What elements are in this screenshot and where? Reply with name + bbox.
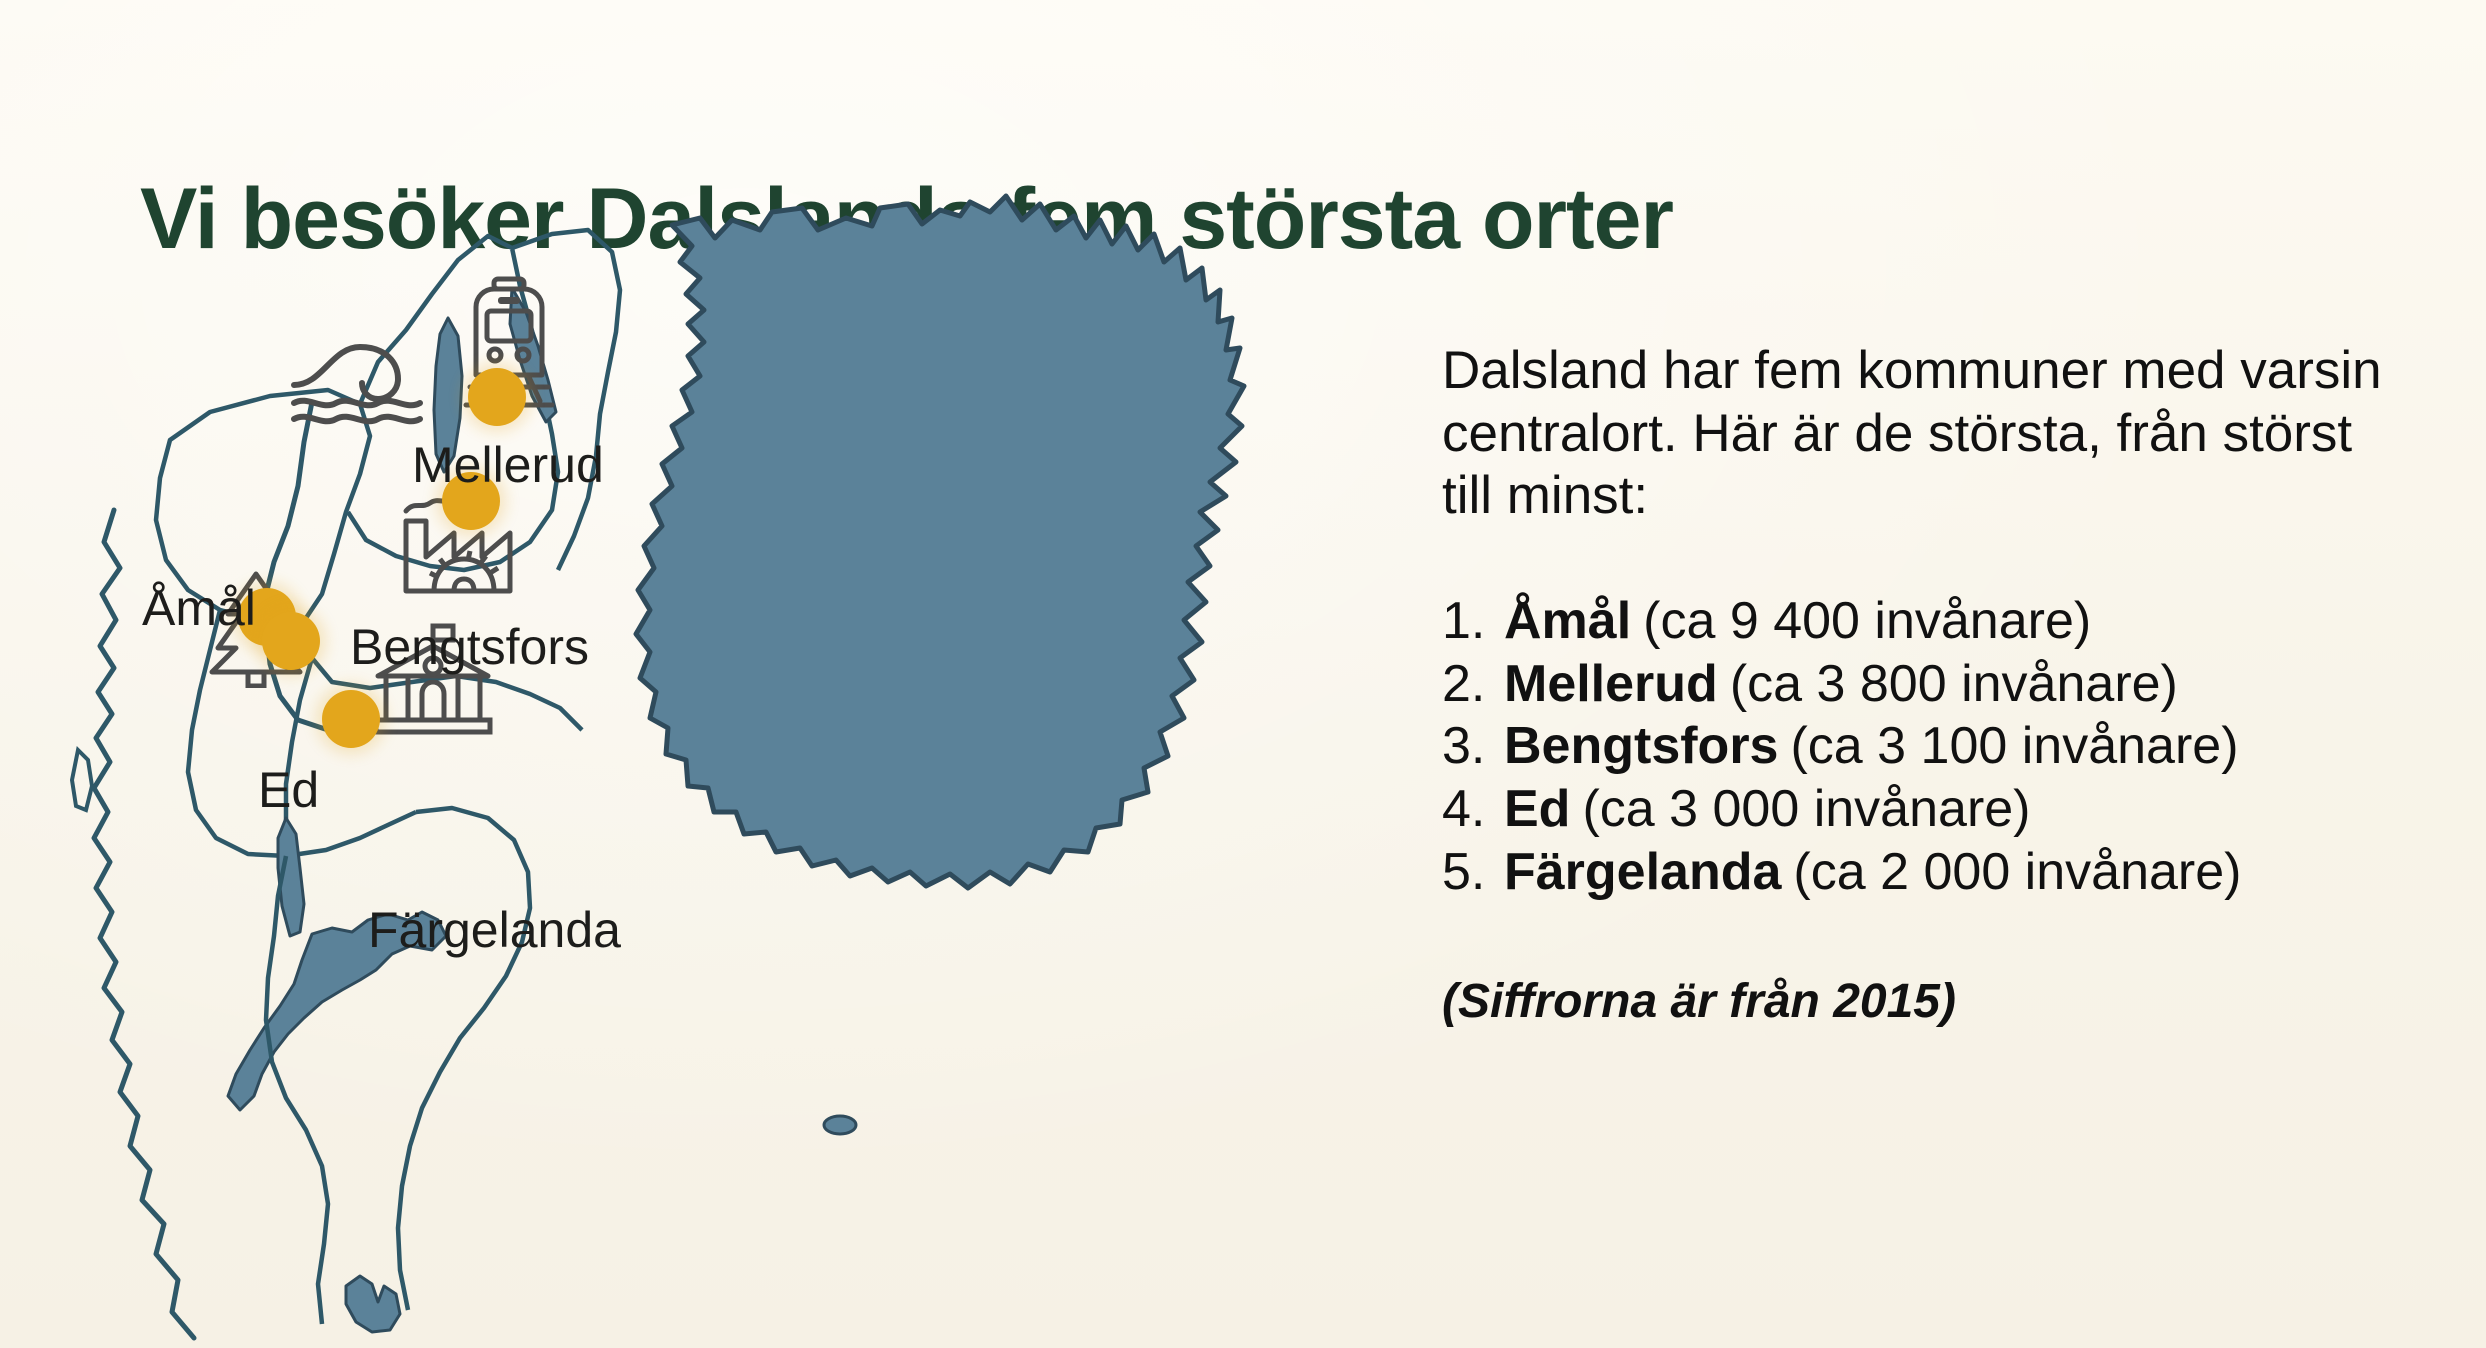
city-list-item: 2.Mellerud(ca 3 800 invånare) — [1442, 653, 2422, 716]
city-list-item: 4.Ed(ca 3 000 invånare) — [1442, 778, 2422, 841]
city-name: Åmål — [1504, 590, 1631, 653]
map-label-bengtsfors: Bengtsfors — [350, 622, 589, 672]
source-note: (Siffrorna är från 2015) — [1442, 974, 2422, 1029]
city-name: Färgelanda — [1504, 841, 1781, 904]
intro-paragraph: Dalsland har fem kommuner med varsin cen… — [1442, 340, 2382, 528]
city-ranking-list: 1.Åmål(ca 9 400 invånare)2.Mellerud(ca 3… — [1442, 590, 2422, 905]
presentation-slide: Vi besöker Dalslands fem största orter — [0, 0, 2486, 1348]
city-list-item: 1.Åmål(ca 9 400 invånare) — [1442, 590, 2422, 653]
city-rank: 2. — [1442, 653, 1504, 716]
city-rank: 3. — [1442, 715, 1504, 778]
city-rank: 5. — [1442, 841, 1504, 904]
boundary-fargelanda — [398, 808, 530, 1310]
city-population: (ca 3 000 invånare) — [1582, 778, 2030, 841]
wave-icon — [288, 335, 430, 427]
city-list-item: 3.Bengtsfors(ca 3 100 invånare) — [1442, 715, 2422, 778]
city-rank: 1. — [1442, 590, 1504, 653]
city-name: Mellerud — [1504, 653, 1718, 716]
lake-vanern-shape — [636, 196, 1244, 888]
city-population: (ca 9 400 invånare) — [1643, 590, 2091, 653]
city-name: Bengtsfors — [1504, 715, 1778, 778]
city-dot-mellerud[interactable] — [468, 368, 526, 426]
dalsland-map: Mellerud Åmål Bengtsfors Ed Färgelanda — [60, 190, 1420, 1348]
city-population: (ca 3 800 invånare) — [1730, 653, 2178, 716]
info-panel: Dalsland har fem kommuner med varsin cen… — [1442, 340, 2422, 1029]
river-amal — [266, 402, 312, 594]
city-dot-ed[interactable] — [262, 612, 320, 670]
city-list-item: 5.Färgelanda(ca 2 000 invånare) — [1442, 841, 2422, 904]
city-dot-fargelanda[interactable] — [322, 690, 380, 748]
map-label-ed: Ed — [258, 765, 319, 815]
map-label-amal: Åmål — [142, 583, 256, 633]
city-population: (ca 2 000 invånare) — [1793, 841, 2241, 904]
city-population: (ca 3 100 invånare) — [1790, 715, 2238, 778]
lake-bottom-small — [346, 1276, 400, 1332]
city-rank: 4. — [1442, 778, 1504, 841]
lake-west-small — [72, 750, 92, 810]
map-label-fargelanda: Färgelanda — [368, 905, 621, 955]
lake-island — [824, 1116, 856, 1134]
city-name: Ed — [1504, 778, 1570, 841]
map-label-mellerud: Mellerud — [412, 440, 604, 490]
